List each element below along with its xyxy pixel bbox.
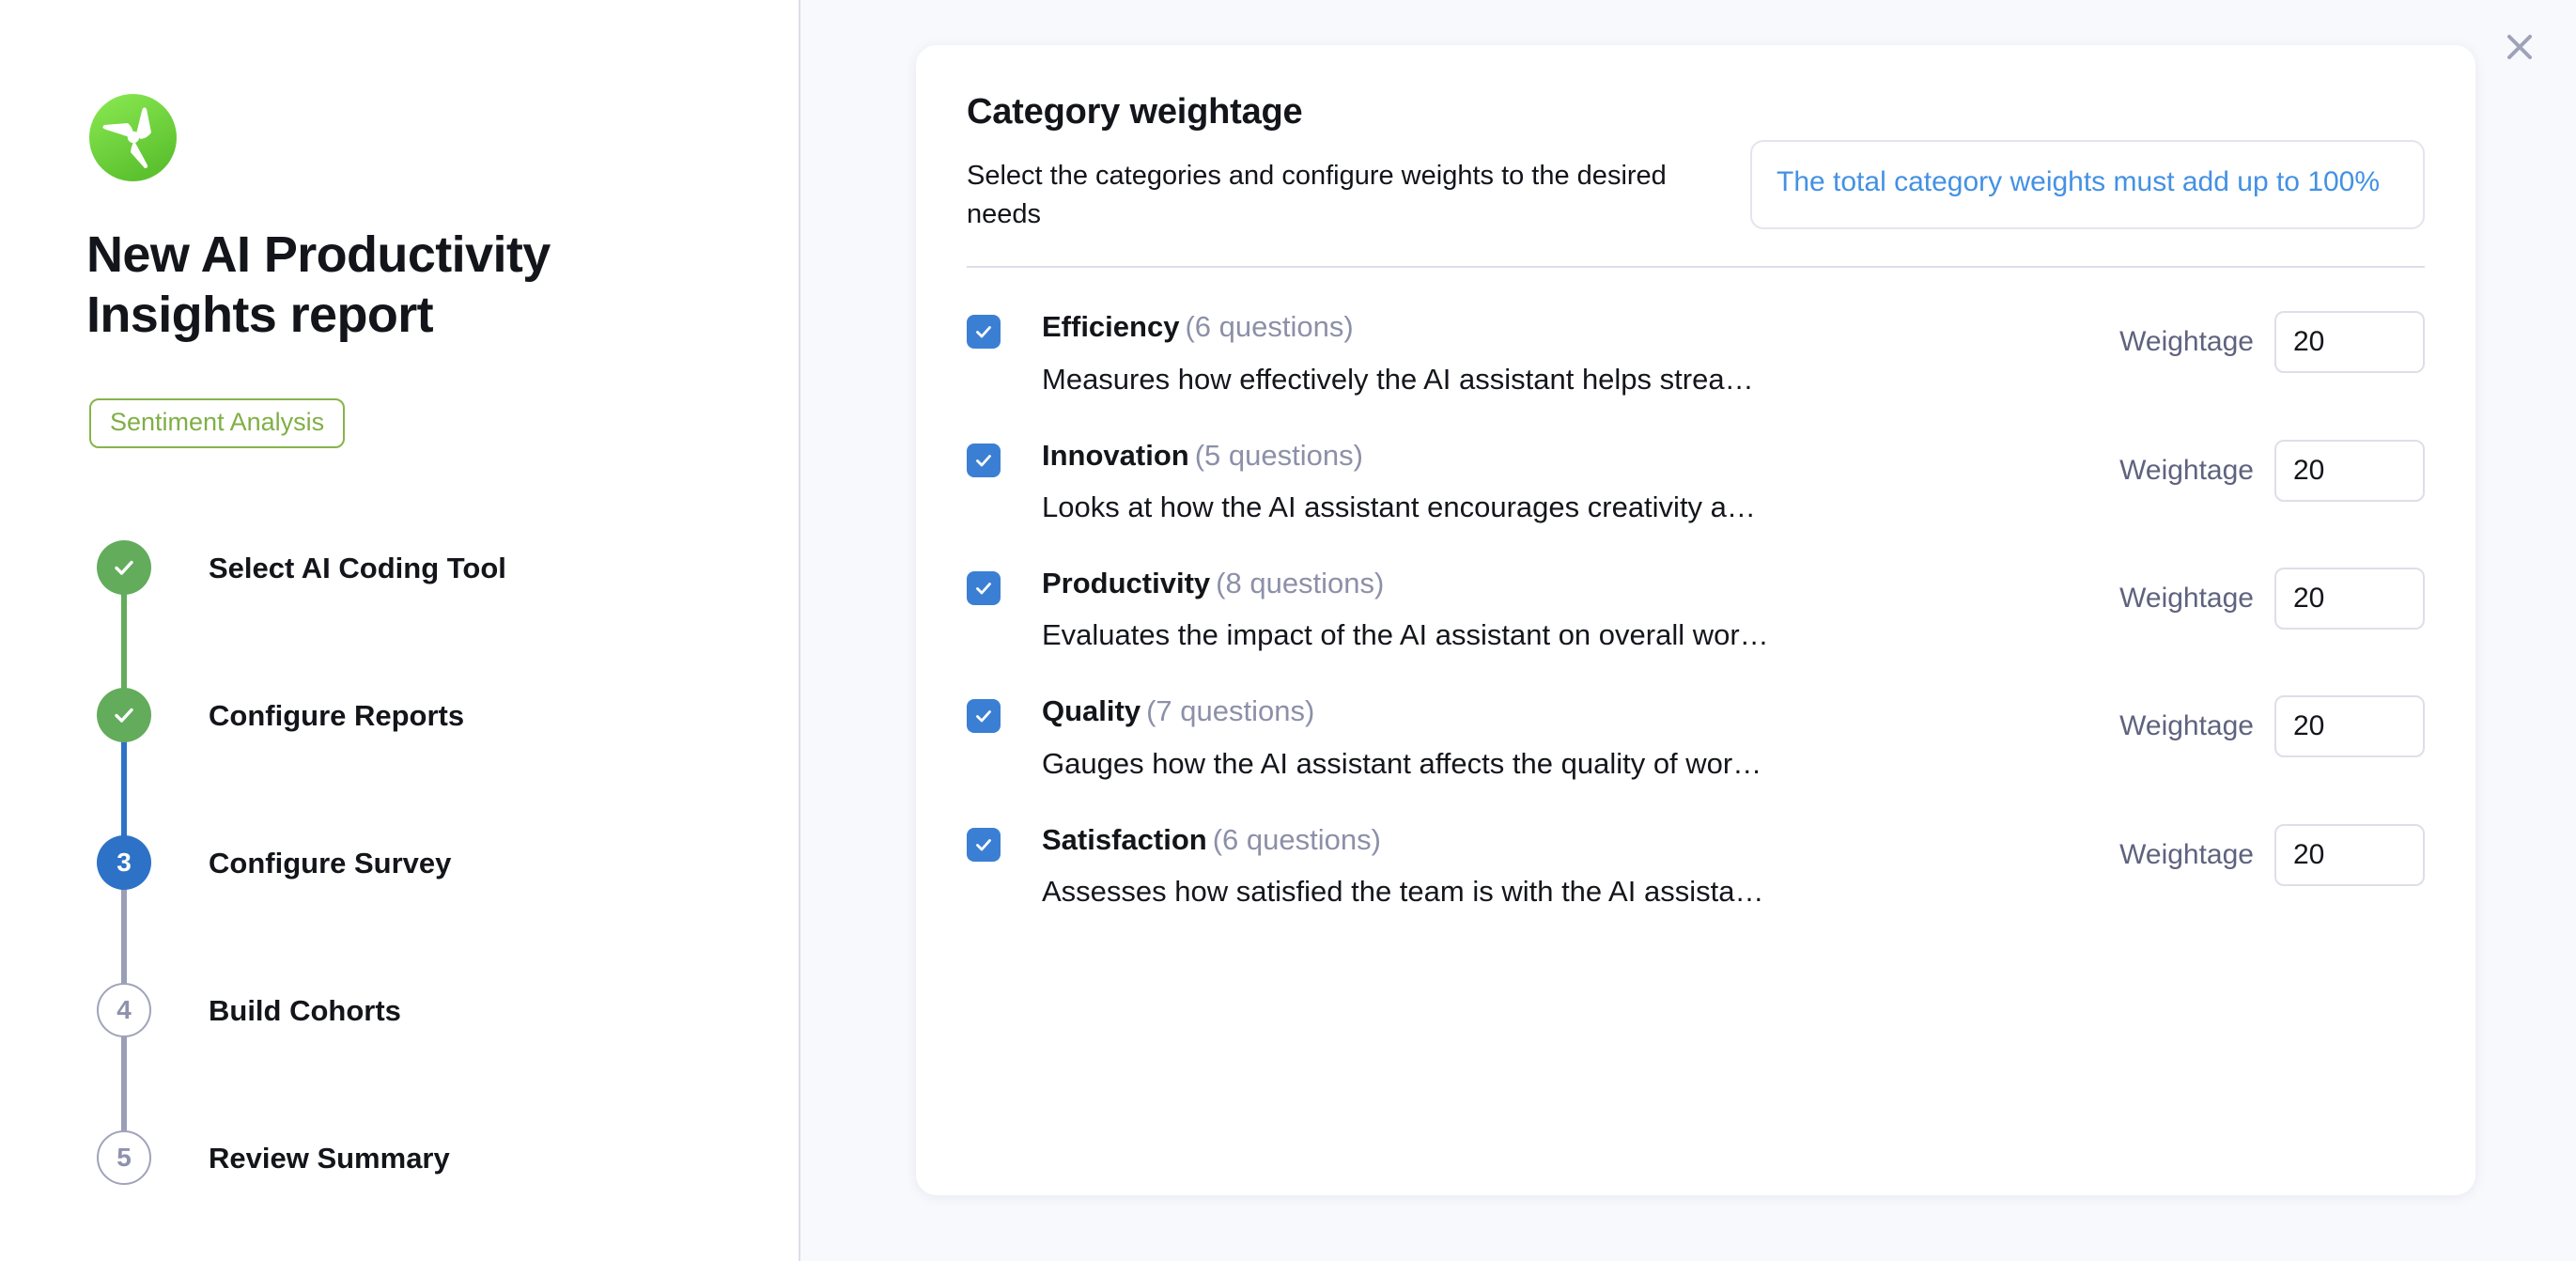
step-item-configure-survey[interactable]: 3 Configure Survey	[97, 835, 754, 983]
category-name: Productivity	[1042, 567, 1210, 599]
category-row: Quality(7 questions) Gauges how the AI a…	[967, 652, 2425, 780]
sidebar: New AI Productivity Insights report Sent…	[0, 0, 800, 1261]
weight-control: Weightage	[2101, 440, 2425, 502]
category-row: Satisfaction(6 questions) Assesses how s…	[967, 781, 2425, 909]
category-text: Satisfaction(6 questions) Assesses how s…	[1001, 822, 2101, 909]
step-item-configure-reports[interactable]: Configure Reports	[97, 688, 754, 835]
step-item-review-summary[interactable]: 5 Review Summary	[97, 1130, 754, 1187]
info-box-text: The total category weights must add up t…	[1777, 163, 2398, 203]
check-icon	[110, 701, 138, 729]
category-name: Satisfaction	[1042, 823, 1207, 856]
page-title: New AI Productivity Insights report	[86, 226, 688, 345]
category-checkbox[interactable]	[967, 828, 1001, 862]
category-description: Looks at how the AI assistant encourages…	[1042, 490, 2052, 524]
category-checkbox[interactable]	[967, 571, 1001, 605]
weight-input[interactable]	[2274, 824, 2425, 886]
check-icon	[972, 833, 995, 856]
weight-control: Weightage	[2101, 568, 2425, 630]
step-label: Configure Survey	[209, 847, 451, 880]
weight-control: Weightage	[2101, 824, 2425, 886]
category-name: Innovation	[1042, 439, 1189, 472]
weight-label: Weightage	[2119, 710, 2254, 742]
weight-input[interactable]	[2274, 695, 2425, 757]
close-button[interactable]	[2491, 19, 2548, 75]
step-marker-current: 3	[97, 835, 151, 890]
category-description: Evaluates the impact of the AI assistant…	[1042, 617, 2052, 652]
step-marker-todo: 4	[97, 983, 151, 1037]
total-weight-info-box: The total category weights must add up t…	[1750, 140, 2425, 229]
category-row: Efficiency(6 questions) Measures how eff…	[967, 268, 2425, 396]
card-subtitle: Select the categories and configure weig…	[967, 157, 1681, 234]
weight-input[interactable]	[2274, 311, 2425, 373]
category-title-line: Innovation(5 questions)	[1042, 438, 2101, 473]
category-question-count: (6 questions)	[1213, 823, 1381, 856]
step-label: Select AI Coding Tool	[209, 552, 506, 585]
category-title-line: Quality(7 questions)	[1042, 693, 2101, 728]
category-text: Productivity(8 questions) Evaluates the …	[1001, 566, 2101, 652]
step-item-build-cohorts[interactable]: 4 Build Cohorts	[97, 983, 754, 1130]
step-marker-done	[97, 540, 151, 595]
category-checkbox[interactable]	[967, 315, 1001, 349]
category-description: Gauges how the AI assistant affects the …	[1042, 746, 2052, 781]
weight-control: Weightage	[2101, 311, 2425, 373]
weight-label: Weightage	[2119, 326, 2254, 358]
step-label: Build Cohorts	[209, 994, 401, 1028]
check-icon	[972, 449, 995, 472]
step-item-select-ai-coding-tool[interactable]: Select AI Coding Tool	[97, 540, 754, 688]
step-connector	[121, 888, 127, 986]
category-row: Innovation(5 questions) Looks at how the…	[967, 397, 2425, 524]
propeller-logo-icon	[89, 94, 177, 181]
card-title: Category weightage	[967, 92, 2425, 132]
check-icon	[972, 320, 995, 343]
category-question-count: (7 questions)	[1146, 694, 1314, 727]
weight-label: Weightage	[2119, 455, 2254, 487]
step-connector	[121, 593, 127, 691]
category-question-count: (8 questions)	[1216, 567, 1384, 599]
step-connector	[121, 740, 127, 838]
category-weightage-card: Category weightage Select the categories…	[916, 45, 2475, 1195]
category-description: Assesses how satisfied the team is with …	[1042, 874, 2052, 909]
category-name: Quality	[1042, 694, 1141, 727]
step-label: Configure Reports	[209, 699, 464, 733]
step-connector	[121, 1035, 127, 1133]
step-marker-todo: 5	[97, 1130, 151, 1185]
category-checkbox[interactable]	[967, 699, 1001, 733]
check-icon	[110, 553, 138, 582]
category-name: Efficiency	[1042, 310, 1179, 343]
category-title-line: Efficiency(6 questions)	[1042, 309, 2101, 344]
weight-input[interactable]	[2274, 568, 2425, 630]
weight-label: Weightage	[2119, 583, 2254, 615]
status-badge: Sentiment Analysis	[89, 398, 345, 448]
category-text: Efficiency(6 questions) Measures how eff…	[1001, 309, 2101, 396]
check-icon	[972, 705, 995, 727]
weight-label: Weightage	[2119, 839, 2254, 871]
category-checkbox[interactable]	[967, 444, 1001, 477]
category-question-count: (5 questions)	[1195, 439, 1363, 472]
step-label: Review Summary	[209, 1142, 450, 1175]
category-list: Efficiency(6 questions) Measures how eff…	[916, 268, 2475, 909]
category-text: Quality(7 questions) Gauges how the AI a…	[1001, 693, 2101, 780]
check-icon	[972, 577, 995, 599]
wizard-stepper: Select AI Coding Tool Configure Reports …	[97, 540, 754, 1187]
category-title-line: Satisfaction(6 questions)	[1042, 822, 2101, 857]
close-icon	[2503, 30, 2537, 64]
main-content: Category weightage Select the categories…	[800, 0, 2576, 1261]
category-description: Measures how effectively the AI assistan…	[1042, 362, 2052, 397]
step-marker-done	[97, 688, 151, 742]
category-row: Productivity(8 questions) Evaluates the …	[967, 524, 2425, 652]
category-text: Innovation(5 questions) Looks at how the…	[1001, 438, 2101, 524]
weight-control: Weightage	[2101, 695, 2425, 757]
category-title-line: Productivity(8 questions)	[1042, 566, 2101, 600]
card-header: Category weightage Select the categories…	[916, 45, 2475, 234]
weight-input[interactable]	[2274, 440, 2425, 502]
category-question-count: (6 questions)	[1185, 310, 1353, 343]
